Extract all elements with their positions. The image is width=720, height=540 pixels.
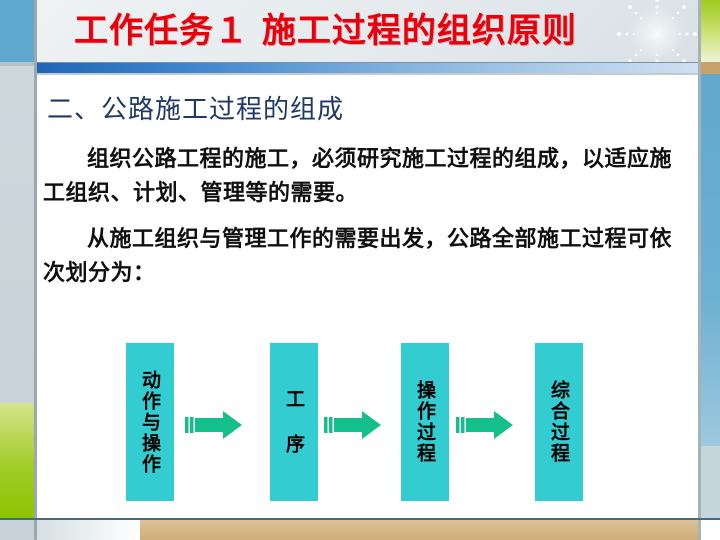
right-arrow-icon: [456, 409, 514, 441]
flow-box-2: 工 序: [270, 343, 318, 501]
bottom-gray-block: [37, 520, 140, 540]
flow-box-1: 动作与操作: [126, 343, 174, 501]
title-band: 工作任务１ 施工过程的组织原则: [37, 0, 701, 62]
page-title: 工作任务１ 施工过程的组织原则: [74, 5, 674, 59]
left-rail-green-block: [0, 403, 34, 520]
body-paragraph-2: 从施工组织与管理工作的需要出发，公路全部施工过程可依次划分为：: [43, 223, 691, 291]
right-rail-pale-block: [701, 446, 720, 520]
bottom-tan-block: [140, 520, 698, 540]
process-flow-diagram: 动作与操作 工 序 操作过程: [37, 337, 698, 512]
flow-box-2-label: 工 序: [270, 389, 318, 455]
flow-box-3-label: 操作过程: [401, 380, 449, 464]
left-rail-blue-block: [0, 0, 34, 62]
slide-body: 二、公路施工过程的组成 组织公路工程的施工，必须研究施工过程的组成，以适应施工组…: [37, 75, 698, 518]
section-heading: 二、公路施工过程的组成: [47, 89, 344, 126]
right-arrow-icon: [324, 409, 382, 441]
body-paragraph-1: 组织公路工程的施工，必须研究施工过程的组成，以适应施工组织、计划、管理等的需要。: [43, 143, 691, 211]
right-rail-foot-block: [701, 520, 720, 540]
right-rail-blue-block: [701, 74, 720, 446]
flow-box-1-label: 动作与操作: [126, 370, 174, 475]
flow-box-3: 操作过程: [401, 343, 449, 501]
right-rail-green-block: [701, 0, 720, 62]
left-rail-light-block: [0, 66, 34, 403]
left-rail-foot-block: [0, 520, 34, 540]
flow-box-4: 综合过程: [535, 343, 583, 501]
slide-canvas: 工作任务１ 施工过程的组织原则 二、公路施工过程的组成 组织公路工程的施工，必须…: [0, 0, 720, 540]
right-rail-tan-block: [701, 62, 720, 74]
flow-box-4-label: 综合过程: [535, 380, 583, 464]
title-underline-rule: [37, 62, 701, 73]
right-arrow-icon: [185, 409, 243, 441]
